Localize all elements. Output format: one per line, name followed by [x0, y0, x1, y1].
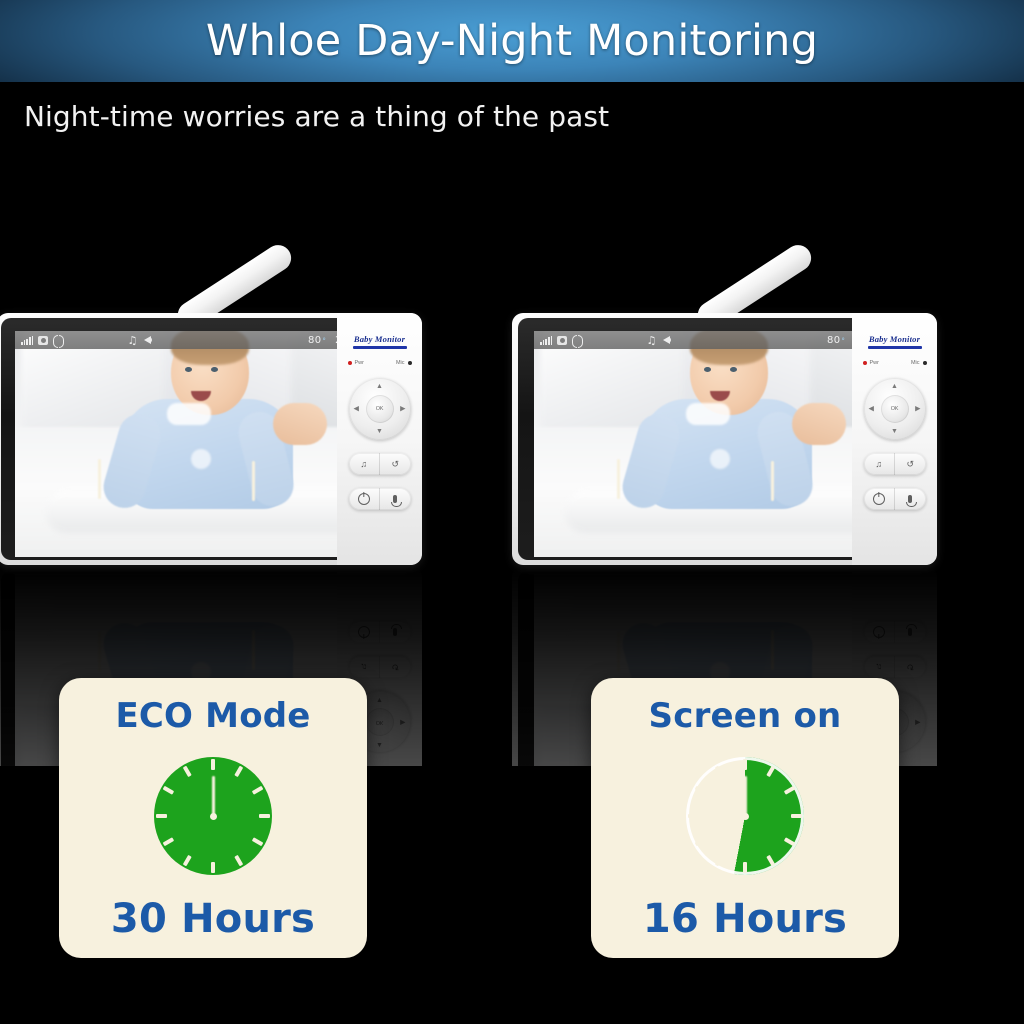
led-indicator-pwr: Pwr: [348, 360, 364, 366]
power-led-icon: [348, 361, 352, 365]
baby-hand-left: [98, 632, 101, 672]
dpad-control[interactable]: ▲▼◀▶OK: [864, 378, 926, 440]
led-indicator-mic: Mic: [396, 360, 412, 366]
music-button[interactable]: ♫: [349, 453, 380, 475]
dpad-up-button[interactable]: ▲: [891, 383, 898, 390]
button-row-music: ♫↺: [349, 453, 411, 475]
power-icon: [358, 626, 370, 638]
device-right: ♫80°21:30Baby MonitorPwrMic▲▼◀▶OK♫↺: [512, 313, 937, 565]
power-led-icon: [863, 361, 867, 365]
led-label: Pwr: [355, 360, 364, 366]
signal-bars-icon: [21, 336, 33, 345]
temperature-readout: 80°: [827, 335, 845, 346]
settings-back-button[interactable]: ↺: [379, 656, 411, 678]
device-body: ♫80°21:30Baby MonitorPwrMic▲▼◀▶OK♫↺: [512, 313, 937, 565]
music-button[interactable]: ♫: [864, 656, 895, 678]
speaker-icon: [663, 336, 670, 344]
talk-mic-button[interactable]: [894, 621, 926, 643]
baby-eye-right: [211, 367, 218, 372]
dpad-ok-button[interactable]: OK: [881, 395, 909, 423]
button-row-music: ♫↺: [349, 656, 411, 678]
button-row-music: ♫↺: [864, 453, 926, 475]
baby-hand-left: [617, 632, 620, 672]
brand-label: Baby Monitor: [354, 334, 405, 344]
dpad-down-button[interactable]: ▼: [891, 428, 898, 435]
power-icon: [873, 626, 885, 638]
led-indicator-row: PwrMic: [863, 360, 927, 366]
talk-mic-button[interactable]: [379, 621, 411, 643]
music-note-icon: ♫: [127, 335, 137, 346]
card-value: 16 Hours: [643, 896, 847, 942]
dpad-control[interactable]: ▲▼◀▶OK: [349, 378, 411, 440]
button-row-power: [864, 621, 926, 643]
baby-hand-right: [771, 461, 774, 501]
dpad-down-button[interactable]: ▼: [376, 428, 383, 435]
dpad-right-button[interactable]: ▶: [400, 719, 405, 726]
status-bar-middle: ♫: [646, 335, 670, 346]
status-bar-middle: ♫: [127, 335, 151, 346]
baby-leg: [792, 403, 846, 445]
clock-tick: [211, 862, 215, 873]
dpad-up-button[interactable]: ▲: [376, 741, 383, 748]
button-row-power: [349, 488, 411, 510]
dpad-up-button[interactable]: ▲: [376, 383, 383, 390]
clock-tick: [688, 814, 699, 818]
clock-hub: [742, 813, 749, 820]
camera-icon: [38, 336, 48, 345]
baby-hand-right: [771, 630, 774, 670]
led-indicator-mic: Mic: [396, 765, 412, 766]
dpad-right-button[interactable]: ▶: [400, 406, 405, 413]
led-label: Pwr: [870, 360, 879, 366]
degree-symbol: °: [322, 337, 326, 345]
music-note-icon: ♫: [646, 335, 656, 346]
header-banner: Whloe Day-Night Monitoring: [0, 0, 1024, 82]
baby-leg: [273, 403, 327, 445]
dpad-ok-button[interactable]: OK: [366, 395, 394, 423]
control-panel: Baby MonitorPwrMic▲▼◀▶OK♫↺: [337, 313, 422, 565]
status-bar-left: [534, 335, 583, 346]
onesie-badge: [191, 449, 211, 469]
brand-label: Baby Monitor: [869, 334, 920, 344]
baby-hand-right: [252, 630, 255, 670]
clock-tick: [259, 814, 270, 818]
dpad-down-button[interactable]: ▼: [376, 696, 383, 703]
signal-bars-icon: [540, 336, 552, 345]
device-left: ♫80°21:50Baby MonitorPwrMic▲▼◀▶OK♫↺: [0, 313, 422, 565]
clock-hub: [210, 813, 217, 820]
degree-symbol: °: [841, 337, 845, 345]
page-title: Whloe Day-Night Monitoring: [0, 0, 1024, 82]
vox-icon: [572, 335, 583, 346]
led-indicator-mic: Mic: [911, 765, 927, 766]
microphone-icon: [393, 628, 397, 636]
dpad-left-button[interactable]: ◀: [869, 406, 874, 413]
dpad-right-button[interactable]: ▶: [915, 719, 920, 726]
clock-tick: [743, 759, 747, 770]
led-label: Mic: [396, 360, 405, 366]
clock-hand: [212, 776, 215, 816]
settings-back-button[interactable]: ↺: [894, 453, 926, 475]
power-icon: [358, 493, 370, 505]
led-label: Mic: [396, 765, 405, 766]
vox-icon: [53, 335, 64, 346]
baby-hand-left: [617, 459, 620, 499]
clock-tick: [743, 862, 747, 873]
clock-tick: [156, 814, 167, 818]
control-panel: Baby MonitorPwrMic▲▼◀▶OK♫↺: [852, 313, 937, 565]
card-title: Screen on: [649, 696, 842, 736]
power-icon: [873, 493, 885, 505]
card-title: ECO Mode: [115, 696, 310, 736]
music-button[interactable]: ♫: [864, 453, 895, 475]
talk-mic-button[interactable]: [379, 488, 411, 510]
power-button[interactable]: [349, 488, 380, 510]
talk-mic-button[interactable]: [894, 488, 926, 510]
clock-hand: [744, 776, 747, 816]
clock-tick: [211, 759, 215, 770]
led-indicator-mic: Mic: [911, 360, 927, 366]
led-label: Mic: [911, 765, 920, 766]
onesie-collar: [686, 403, 730, 425]
baby-hand-right: [252, 461, 255, 501]
baby-hand-left: [98, 459, 101, 499]
baby-eye-right: [730, 367, 737, 372]
led-indicator-pwr: Pwr: [863, 360, 879, 366]
mic-led-icon: [408, 361, 412, 365]
button-row-power: [864, 488, 926, 510]
microphone-icon: [908, 495, 912, 503]
settings-back-button[interactable]: ↺: [379, 453, 411, 475]
battery-card-right: Screen on16 Hours: [591, 678, 899, 958]
led-indicator-row: PwrMic: [348, 360, 412, 366]
temperature-readout: 80°: [308, 335, 326, 346]
dpad-right-button[interactable]: ▶: [915, 406, 920, 413]
microphone-icon: [908, 628, 912, 636]
status-bar-left: [15, 335, 64, 346]
onesie-badge: [710, 449, 730, 469]
settings-back-button[interactable]: ↺: [894, 656, 926, 678]
onesie-collar: [167, 403, 211, 425]
button-row-music: ♫↺: [864, 656, 926, 678]
dpad-ok-button[interactable]: OK: [366, 708, 394, 736]
battery-clock-icon: [686, 757, 804, 875]
scene-background: Whloe Day-Night Monitoring Night-time wo…: [0, 0, 1024, 1024]
battery-card-left: ECO Mode30 Hours: [59, 678, 367, 958]
clock-tick: [791, 814, 802, 818]
baby-eye-left: [704, 367, 711, 372]
brand-underline: [353, 346, 407, 349]
subtitle-text: Night-time worries are a thing of the pa…: [24, 100, 609, 133]
camera-icon: [557, 336, 567, 345]
mic-led-icon: [923, 361, 927, 365]
brand-underline: [868, 346, 922, 349]
speaker-icon: [144, 336, 151, 344]
power-button[interactable]: [349, 621, 380, 643]
device-body: ♫80°21:50Baby MonitorPwrMic▲▼◀▶OK♫↺: [0, 313, 422, 565]
dpad-left-button[interactable]: ◀: [354, 406, 359, 413]
led-label: Mic: [911, 360, 920, 366]
baby-eye-left: [185, 367, 192, 372]
microphone-icon: [393, 495, 397, 503]
music-button[interactable]: ♫: [349, 656, 380, 678]
button-row-power: [349, 621, 411, 643]
card-value: 30 Hours: [111, 896, 315, 942]
power-button[interactable]: [864, 621, 895, 643]
power-button[interactable]: [864, 488, 895, 510]
battery-clock-icon: [154, 757, 272, 875]
